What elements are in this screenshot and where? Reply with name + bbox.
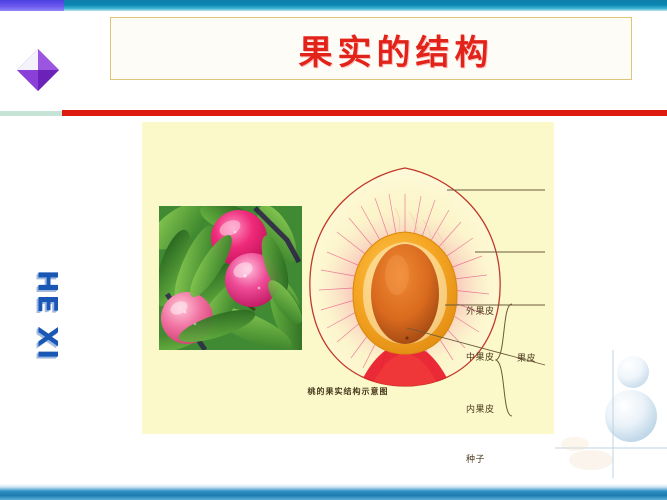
label-seed: 种子 <box>466 452 485 465</box>
label-pericarp: 果皮 <box>517 351 536 364</box>
content-panel: 外果皮 中果皮 内果皮 果皮 种子 桃的果实结构示意图 <box>142 122 554 434</box>
page-title: 果实的结构 <box>111 18 633 81</box>
slide-canvas: 果实的结构 HE XI <box>0 0 667 500</box>
bottom-decor-bar <box>0 484 667 500</box>
sphere-decoration <box>555 350 667 490</box>
label-endocarp: 内果皮 <box>466 402 495 415</box>
top-bar-purple-segment <box>0 0 64 11</box>
peach-tree-photo <box>159 206 302 350</box>
divider-mint-segment <box>0 111 62 116</box>
divider-red-bar <box>62 110 667 116</box>
label-exocarp: 外果皮 <box>466 304 495 317</box>
sidebar-brand-label: HE XI <box>32 256 63 376</box>
top-decor-bar <box>0 0 667 11</box>
top-bar-teal-segment <box>64 0 667 11</box>
title-box: 果实的结构 <box>110 17 632 80</box>
diagram-caption: 桃的果实结构示意图 <box>142 386 554 397</box>
label-mesocarp: 中果皮 <box>466 350 495 363</box>
diamond-icon <box>14 46 62 94</box>
